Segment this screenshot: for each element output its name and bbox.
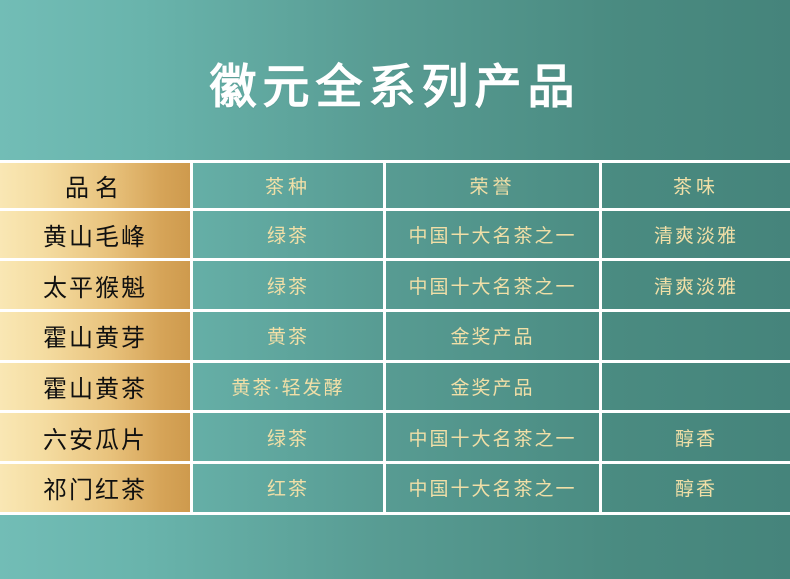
- cell-honor: 金奖产品: [386, 312, 602, 363]
- cell-honor: 中国十大名茶之一: [386, 464, 602, 515]
- table-row: 霍山黄芽 黄茶 金奖产品: [0, 312, 790, 363]
- cell-tea-type: 黄茶: [193, 312, 386, 363]
- table-row: 祁门红茶 红茶 中国十大名茶之一 醇香: [0, 464, 790, 515]
- cell-honor: 中国十大名茶之一: [386, 413, 602, 464]
- cell-taste: 醇香: [602, 413, 790, 464]
- product-poster: 徽元全系列产品 品名 茶种 荣誉 茶味 黄山毛峰 绿茶 中国十大名茶之一 清爽淡…: [0, 0, 790, 579]
- cell-taste: 清爽淡雅: [602, 211, 790, 262]
- product-table: 品名 茶种 荣誉 茶味 黄山毛峰 绿茶 中国十大名茶之一 清爽淡雅 太平猴魁 绿…: [0, 160, 790, 515]
- column-header-taste: 茶味: [602, 160, 790, 211]
- title-area: 徽元全系列产品: [0, 52, 790, 122]
- table-row: 太平猴魁 绿茶 中国十大名茶之一 清爽淡雅: [0, 261, 790, 312]
- cell-product-name: 黄山毛峰: [0, 211, 193, 262]
- cell-tea-type: 绿茶: [193, 413, 386, 464]
- table-row: 霍山黄茶 黄茶·轻发酵 金奖产品: [0, 363, 790, 414]
- cell-product-name: 霍山黄芽: [0, 312, 193, 363]
- cell-taste: [602, 312, 790, 363]
- cell-tea-type: 绿茶: [193, 261, 386, 312]
- page-title: 徽元全系列产品: [210, 64, 581, 111]
- cell-honor: 金奖产品: [386, 363, 602, 414]
- cell-taste: 醇香: [602, 464, 790, 515]
- column-header-honor: 荣誉: [386, 160, 602, 211]
- cell-honor: 中国十大名茶之一: [386, 211, 602, 262]
- cell-product-name: 六安瓜片: [0, 413, 193, 464]
- cell-product-name: 祁门红茶: [0, 464, 193, 515]
- table-header-row: 品名 茶种 荣誉 茶味: [0, 160, 790, 211]
- cell-taste: [602, 363, 790, 414]
- cell-taste: 清爽淡雅: [602, 261, 790, 312]
- column-header-name: 品名: [0, 160, 193, 211]
- cell-product-name: 太平猴魁: [0, 261, 193, 312]
- table-row: 黄山毛峰 绿茶 中国十大名茶之一 清爽淡雅: [0, 211, 790, 262]
- cell-tea-type: 红茶: [193, 464, 386, 515]
- table-row: 六安瓜片 绿茶 中国十大名茶之一 醇香: [0, 413, 790, 464]
- cell-tea-type: 黄茶·轻发酵: [193, 363, 386, 414]
- cell-tea-type: 绿茶: [193, 211, 386, 262]
- cell-product-name: 霍山黄茶: [0, 363, 193, 414]
- cell-honor: 中国十大名茶之一: [386, 261, 602, 312]
- column-header-type: 茶种: [193, 160, 386, 211]
